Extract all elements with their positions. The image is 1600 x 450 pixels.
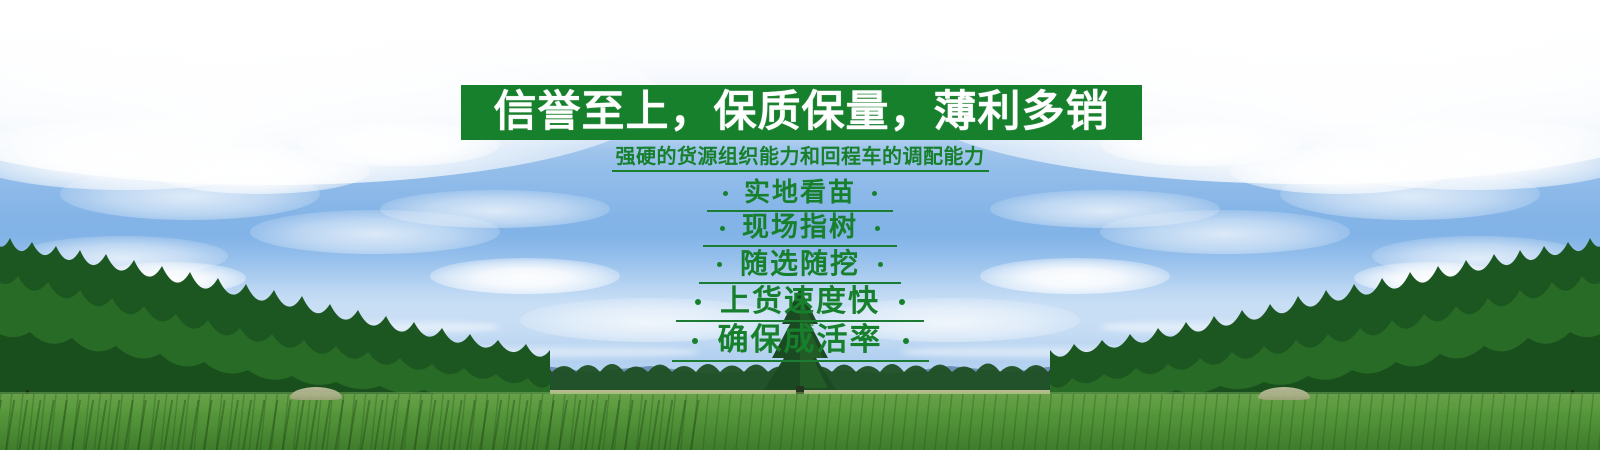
bullet-dot-icon <box>872 191 877 196</box>
bullet-dot-icon <box>878 262 883 267</box>
feature-label: 上货速度快 <box>720 285 880 319</box>
bullet-dot-icon <box>692 338 698 344</box>
headline-bar: 信誉至上，保质保量，薄利多销 <box>461 85 1142 140</box>
bullet-dot-icon <box>720 226 725 231</box>
subtitle: 强硬的货源组织能力和回程车的调配能力 <box>0 146 1600 172</box>
banner-content: 信誉至上，保质保量，薄利多销 强硬的货源组织能力和回程车的调配能力 实地看苗 现… <box>0 0 1600 450</box>
feature-label: 确保成活率 <box>718 323 883 358</box>
feature-label: 现场指树 <box>742 213 858 243</box>
feature-list: 实地看苗 现场指树 随选随挖 上货速度快 确保成活率 <box>0 178 1600 362</box>
feature-item: 实地看苗 <box>707 178 893 212</box>
feature-label: 实地看苗 <box>744 179 856 208</box>
feature-item: 现场指树 <box>703 212 897 247</box>
bullet-dot-icon <box>899 299 905 305</box>
headline-text: 信誉至上，保质保量，薄利多销 <box>494 91 1110 134</box>
promo-banner: 信誉至上，保质保量，薄利多销 强硬的货源组织能力和回程车的调配能力 实地看苗 现… <box>0 0 1600 450</box>
feature-item: 上货速度快 <box>676 284 924 323</box>
feature-item: 确保成活率 <box>672 322 929 362</box>
bullet-dot-icon <box>875 226 880 231</box>
bullet-dot-icon <box>723 191 728 196</box>
subtitle-text: 强硬的货源组织能力和回程车的调配能力 <box>612 146 989 172</box>
bullet-dot-icon <box>903 338 909 344</box>
feature-item: 随选随挖 <box>699 247 901 283</box>
feature-label: 随选随挖 <box>740 248 860 279</box>
bullet-dot-icon <box>717 262 722 267</box>
bullet-dot-icon <box>695 299 701 305</box>
